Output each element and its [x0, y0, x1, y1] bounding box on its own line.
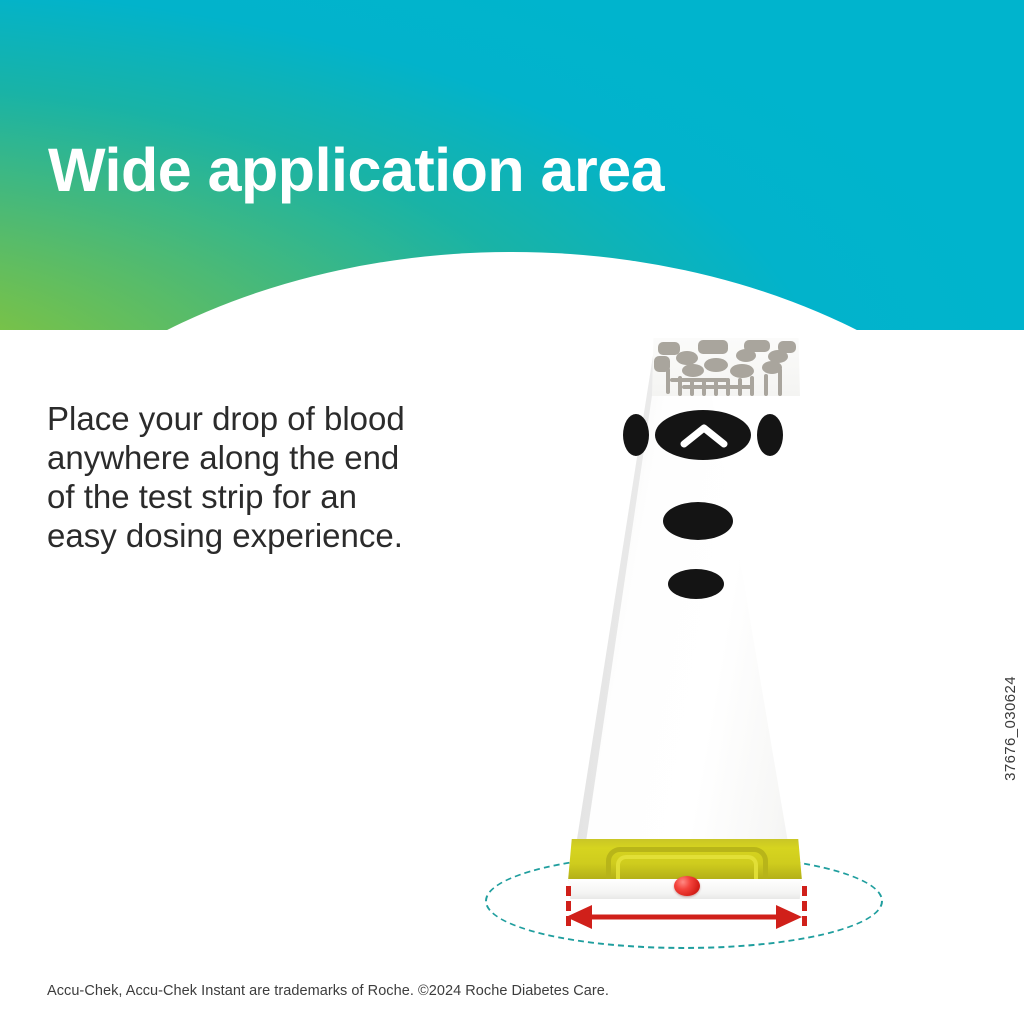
- strip-marking-small: [668, 569, 724, 599]
- application-width-arrow: [558, 898, 810, 932]
- body-line-4: easy dosing experience.: [47, 517, 477, 556]
- header-banner: Wide application area: [0, 0, 1024, 330]
- blood-drop-icon: [674, 876, 700, 896]
- page-title: Wide application area: [48, 138, 664, 202]
- strip-marking-edge-left: [623, 414, 649, 456]
- body-line-1: Place your drop of blood: [47, 400, 477, 439]
- document-reference-code: 37676_030624: [1002, 676, 1019, 781]
- legal-footnote: Accu-Chek, Accu-Chek Instant are tradema…: [47, 983, 609, 999]
- chevron-up-icon: [680, 420, 728, 450]
- strip-marking-edge-right: [757, 414, 783, 456]
- body-line-2: anywhere along the end: [47, 439, 477, 478]
- reagent-dosing-band: [568, 839, 802, 881]
- test-strip-illustration: [440, 320, 960, 970]
- strip-marking-medium: [663, 502, 733, 540]
- promo-page: Wide application area Place your drop of…: [0, 0, 1024, 1024]
- body-paragraph: Place your drop of blood anywhere along …: [47, 400, 477, 556]
- electrode-contact-pattern: [652, 338, 800, 396]
- body-line-3: of the test strip for an: [47, 478, 477, 517]
